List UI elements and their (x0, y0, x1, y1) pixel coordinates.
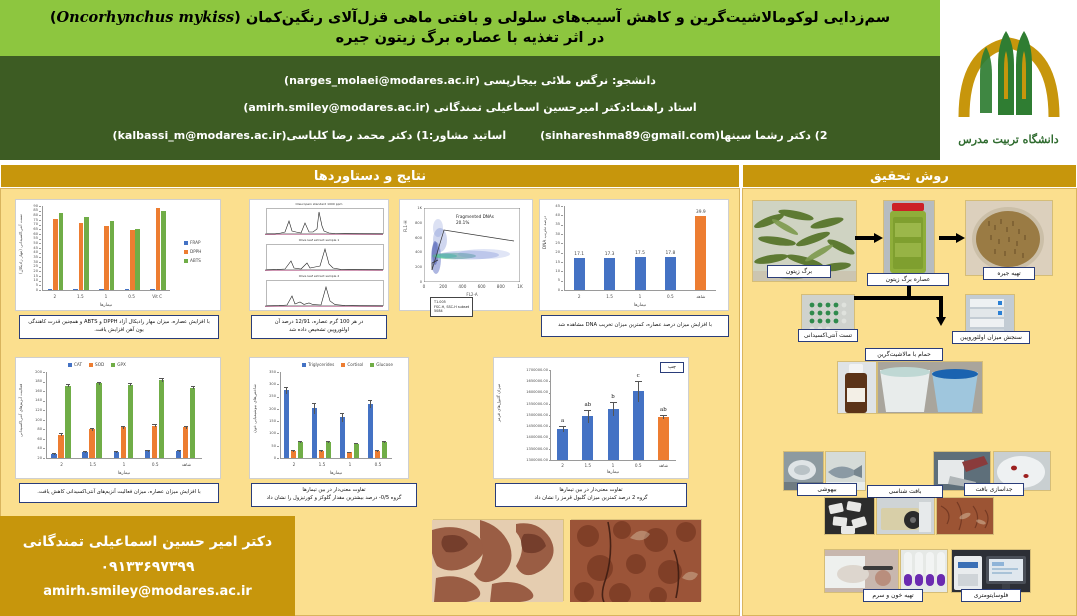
legend-label: Cortisol (347, 362, 363, 367)
y-tick-label: 1600000.00 (506, 390, 548, 394)
y-tick-label: 0 (264, 456, 276, 460)
x-tick-label: 0.5 (626, 463, 651, 468)
label-blood-serum: تهیه خون و سرم (863, 589, 923, 602)
bar (59, 213, 64, 290)
error-bar-cap (152, 424, 156, 425)
photo-histology-slide (936, 497, 994, 535)
bar (176, 451, 182, 458)
fc-annotation-value: 20.1% (456, 220, 469, 225)
chromatogram-3 (266, 280, 384, 306)
y-tick-mark (39, 276, 41, 277)
error-bar-cap (128, 383, 132, 384)
error-bar (638, 381, 639, 403)
legend-swatch (302, 363, 306, 367)
bar (298, 442, 304, 458)
y-tick-mark (549, 370, 551, 371)
x-tick-label: 1 (625, 294, 655, 299)
significance-letter: ab (653, 407, 674, 413)
legend-item: FRAP (184, 240, 201, 245)
bar (635, 257, 646, 290)
chart1-legend: FRAPDPPHABTS (184, 240, 201, 263)
error-bar (588, 410, 589, 424)
y-tick-label: 35 (24, 255, 38, 259)
page-title-line1: سم‌زدایی لوکومالاشیت‌گرین و کاهش آسیب‌ها… (50, 8, 890, 28)
error-bar-cap (559, 426, 566, 427)
bar (319, 451, 325, 458)
y-tick-label: 1350000.00 (506, 447, 548, 451)
legend-item: Triglycerides (302, 362, 334, 367)
photo-olive-extract (883, 200, 935, 276)
chart1-caption-l2: یون آهن افزایش یافت. (94, 327, 144, 335)
legend-label: DPPH (190, 249, 201, 254)
error-bar-cap (375, 450, 379, 451)
bar (608, 409, 619, 460)
error-bar-cap (66, 384, 70, 385)
chart2-caption: در هر 100 گرم عصاره، 12/91 درصد آن اولئو… (251, 315, 387, 339)
histology-image-liver (433, 519, 564, 601)
chart6-y-axis (280, 372, 281, 458)
error-bar-cap (584, 410, 591, 411)
y-tick-label: 1300000.00 (506, 458, 548, 462)
chart5-caption: با افزایش میزان عصاره، میزان فعالیت آنزی… (19, 483, 219, 503)
y-tick-label: 180 (28, 379, 42, 383)
y-tick-mark (43, 382, 45, 383)
y-tick-mark (277, 421, 279, 422)
chart1-caption: با افزایش عصاره، میزان مهار رادیکال آزاد… (19, 315, 219, 339)
bar-value-label: 39.9 (689, 210, 712, 215)
significance-letter: ab (577, 402, 598, 408)
y-tick-label: 1450000.00 (506, 424, 548, 428)
bar (53, 219, 58, 290)
y-tick-label: 200 (264, 407, 276, 411)
y-tick-label: 20 (548, 250, 560, 254)
bar (99, 289, 104, 290)
y-tick-mark (39, 267, 41, 268)
legend-swatch (341, 363, 345, 367)
y-tick-label: 40 (548, 213, 560, 217)
chart4-caption-l1: با افزایش میزان درصد عصاره، کمترین میزان… (558, 322, 712, 330)
y-tick-label: 20 (28, 456, 42, 460)
y-tick-label: 300 (264, 382, 276, 386)
advisors-line: 2) دکتر رشما سینها(sinhareshma89@gmail.c… (113, 129, 828, 142)
y-tick-label: 1400000.00 (506, 435, 548, 439)
page-title-line2: در اثر تغذیه با عصاره برگ زیتون جیره (336, 29, 605, 48)
x-tick-label: 1.5 (77, 462, 108, 467)
y-tick-mark (561, 253, 563, 254)
error-bar-cap (610, 402, 617, 403)
chart1-x-axis (42, 290, 170, 291)
y-tick-label: 15 (24, 274, 38, 278)
photo-blood-tubes (900, 549, 948, 593)
error-bar-cap (284, 387, 288, 388)
bar (150, 289, 155, 290)
chart6-caption-l2: گروه 0/5- درصد بیشترین مقدار گلوکز و کور… (267, 495, 402, 503)
legend-item: CAT (68, 362, 82, 367)
chart7-caption-l2: گروه 2 درصد کمترین میزان گلبول قرمز را ن… (534, 495, 647, 503)
y-tick-mark (561, 290, 563, 291)
y-tick-mark (43, 410, 45, 411)
legend-label: Glucose (376, 362, 393, 367)
fc-legend-box: T1.005 FSC-H, SSC-H subset 5084 (430, 297, 473, 317)
bar (190, 388, 196, 458)
y-tick-label: 400 (410, 250, 422, 254)
chart4-y-axis (564, 206, 565, 290)
error-bar-cap (326, 441, 330, 442)
legend-item: SOD (89, 362, 104, 367)
bar (382, 442, 388, 458)
x-tick-label: 400 (454, 284, 470, 289)
chart1-ylabel: تست آنتی‌اکسیدانی (مهار رادیکال) (18, 214, 23, 288)
x-tick-label: 1K (512, 284, 528, 289)
chart4-x-axis (564, 290, 716, 291)
legend-swatch (89, 363, 93, 367)
y-tick-label: 350 (264, 370, 276, 374)
y-tick-mark (39, 285, 41, 286)
error-bar-cap (368, 400, 372, 401)
section-header-method: روش تحقیق (742, 164, 1077, 188)
x-tick-label: 2 (42, 294, 68, 299)
label-oleuropein-assay: سنجش میزان اولئوروپین (952, 331, 1030, 344)
y-tick-label: 5 (24, 283, 38, 287)
x-tick-label: 0.5 (655, 294, 685, 299)
y-tick-mark (561, 215, 563, 216)
y-tick-label: 0 (24, 288, 38, 292)
error-bar-cap (114, 451, 118, 452)
y-tick-label: 140 (28, 398, 42, 402)
y-tick-mark (39, 206, 41, 207)
legend-label: GPX (117, 362, 126, 367)
advisor-1: اساتید مشاور:1) دکتر محمد رضا کلباسی(kal… (113, 129, 507, 142)
bar (110, 221, 115, 290)
bar (354, 444, 360, 458)
y-tick-label: 100 (28, 418, 42, 422)
x-tick-label: 0.5 (119, 294, 145, 299)
y-tick-mark (39, 257, 41, 258)
chart-dna-damage: درصد تخریب DNA 051015202530354045 17.117… (539, 199, 729, 311)
university-logo: دانشگاه تربیت مدرس (940, 0, 1077, 160)
y-tick-mark (549, 381, 551, 382)
error-bar (370, 400, 371, 409)
contact-email: amirh.smiley@modares.ac.ir (43, 584, 252, 599)
error-bar-cap (298, 441, 302, 442)
bar (125, 289, 130, 290)
error-bar-cap (340, 413, 344, 414)
y-tick-label: 15 (548, 260, 560, 264)
arrow-to-oleuropein-assay (939, 296, 943, 318)
bar (152, 426, 158, 458)
y-tick-mark (549, 449, 551, 450)
chrom3-title: Olive leaf extract sample 2 (250, 274, 388, 278)
x-tick-label: 1.5 (575, 463, 600, 468)
fc-annotation-title: Fragmented DNAs (456, 214, 494, 219)
y-tick-mark (39, 211, 41, 212)
legend-swatch (184, 259, 188, 263)
y-tick-mark (549, 460, 551, 461)
error-bar-cap (660, 415, 667, 416)
y-tick-mark (39, 225, 41, 226)
y-tick-label: 1500000.00 (506, 413, 548, 417)
logo-caption: دانشگاه تربیت مدرس (940, 133, 1077, 146)
contact-phone: ۰۹۱۳۳۶۹۷۳۹۹ (101, 559, 195, 575)
y-tick-mark (43, 429, 45, 430)
bar (121, 427, 127, 458)
y-tick-mark (39, 281, 41, 282)
y-tick-mark (43, 372, 45, 373)
y-tick-mark (549, 404, 551, 405)
histology-slide-photo (936, 498, 993, 535)
bar-value-label: 17.1 (568, 252, 591, 257)
histology-image-intestine (571, 519, 702, 601)
y-tick-label: 25 (24, 264, 38, 268)
title-band: سم‌زدایی لوکومالاشیت‌گرین و کاهش آسیب‌ها… (0, 0, 940, 56)
photo-blood-sampling (824, 549, 899, 593)
legend-label: ABTS (190, 258, 201, 263)
error-bar-cap (635, 381, 642, 382)
error-bar-cap (159, 378, 163, 379)
chart7-xlabel: تیمارها (550, 470, 676, 475)
y-tick-mark (39, 234, 41, 235)
bar (312, 408, 318, 458)
bar (658, 417, 669, 460)
photo-malachite-bottle (837, 361, 877, 414)
y-tick-label: 90 (24, 204, 38, 208)
y-tick-mark (277, 409, 279, 410)
y-tick-label: 80 (24, 213, 38, 217)
student-line: دانشجو: نرگس ملائی بیجارپسی (narges_mola… (284, 74, 656, 87)
y-tick-label: 40 (28, 446, 42, 450)
error-bar-cap (191, 386, 195, 387)
legend-label: CAT (74, 362, 82, 367)
chart5-y-axis (46, 372, 47, 458)
bar (79, 223, 84, 290)
y-tick-mark (39, 253, 41, 254)
bar (284, 390, 290, 458)
bar (48, 289, 53, 290)
x-tick-label: 1 (600, 463, 625, 468)
x-tick-label: 1 (108, 462, 139, 467)
x-tick-label: شاهد (686, 294, 716, 299)
x-tick-label: 2 (280, 462, 308, 467)
y-tick-mark (43, 458, 45, 459)
x-tick-label: 200 (435, 284, 451, 289)
chrom2-trace (265, 245, 383, 271)
poster-root: سم‌زدایی لوکومالاشیت‌گرین و کاهش آسیب‌ها… (0, 0, 1077, 616)
bar (73, 289, 78, 290)
y-tick-mark (39, 248, 41, 249)
chrom2-title: Olive leaf extract sample 1 (250, 238, 388, 242)
chart6-caption-l1: تفاوت معنی‌دار در بین تیمارها (302, 487, 365, 495)
y-tick-mark (39, 271, 41, 272)
microtome-photo (876, 498, 934, 535)
error-bar (286, 387, 287, 394)
feed-preparation-photo (965, 201, 1052, 276)
y-tick-label: 85 (24, 208, 38, 212)
y-tick-mark (43, 420, 45, 421)
supervisor-line: استاد راهنما:دکتر امیرحسین اسماعیلی تمند… (243, 101, 696, 114)
y-tick-mark (561, 234, 563, 235)
error-bar (342, 413, 343, 423)
y-tick-mark (561, 281, 563, 282)
chart-antioxidant-enzymes: CATSODGPX فعالیت آنزیم‌های آنتی‌اکسیدانی… (15, 357, 221, 479)
y-tick-mark (277, 446, 279, 447)
chart2-caption-l1: در هر 100 گرم عصاره، 12/91 درصد آن (275, 319, 364, 327)
x-tick-label: 2 (550, 463, 575, 468)
chart4-caption: با افزایش میزان درصد عصاره، کمترین میزان… (541, 315, 729, 337)
legend-label: Triglycerides (308, 362, 334, 367)
liver-histology-graphic (432, 520, 563, 602)
y-tick-label: 1550000.00 (506, 402, 548, 406)
chart7-caption: تفاوت معنی‌دار در بین تیمارها گروه 2 درص… (495, 483, 687, 507)
y-tick-label: 80 (28, 427, 42, 431)
legend-swatch (184, 250, 188, 254)
y-tick-label: 0 (548, 288, 560, 292)
y-tick-mark (39, 243, 41, 244)
label-feed-preparation: تهیه جیره (983, 267, 1035, 280)
x-tick-label: 0.5 (140, 462, 171, 467)
error-bar-cap (90, 428, 94, 429)
y-tick-mark (39, 229, 41, 230)
y-tick-mark (561, 225, 563, 226)
y-tick-label: 250 (264, 394, 276, 398)
label-antioxidant-test: تست آنتی‌اکسیدانی (798, 329, 858, 342)
y-tick-label: 120 (28, 408, 42, 412)
y-tick-mark (43, 448, 45, 449)
bar (130, 230, 135, 290)
x-tick-label: 0 (416, 284, 432, 289)
bar (156, 208, 161, 290)
y-tick-label: 200 (28, 370, 42, 374)
y-tick-mark (549, 426, 551, 427)
significance-letter: c (628, 373, 649, 379)
treatment-tanks-photo (877, 362, 982, 414)
error-bar-cap (145, 450, 149, 451)
legend-item: GPX (111, 362, 126, 367)
y-tick-label: 200 (410, 265, 422, 269)
chart5-ylabel: فعالیت آنزیم‌های آنتی‌اکسیدانی (18, 384, 23, 456)
x-tick-label: شاهد (171, 462, 202, 467)
x-tick-label: Vit C (144, 294, 170, 299)
error-bar-cap (52, 453, 56, 454)
blood-sampling-photo (824, 550, 898, 593)
y-tick-label: 75 (24, 218, 38, 222)
error-bar-cap (319, 450, 323, 451)
label-anesthesia: بیهوشی (797, 483, 857, 496)
y-tick-label: 60 (28, 437, 42, 441)
y-tick-label: 1K (410, 206, 422, 210)
y-tick-label: 35 (548, 222, 560, 226)
section-header-results: نتایج و دستاوردها (0, 164, 740, 188)
bar (135, 229, 140, 290)
x-tick-label: 1.5 (308, 462, 336, 467)
y-tick-mark (549, 415, 551, 416)
bar (557, 429, 568, 460)
chart-biochemical-blood: TriglyceridesCortisolGlucose شاخص‌های بی… (249, 357, 409, 479)
chart6-caption: تفاوت معنی‌دار در بین تیمارها گروه 0/5- … (251, 483, 417, 507)
y-tick-mark (39, 262, 41, 263)
y-tick-mark (277, 372, 279, 373)
error-bar (314, 403, 315, 414)
y-tick-label: 100 (264, 431, 276, 435)
bar (695, 216, 706, 290)
tissue-cassettes-photo (824, 498, 874, 535)
y-tick-label: 70 (24, 222, 38, 226)
advisor-2: 2) دکتر رشما سینها(sinhareshma89@gmail.c… (540, 129, 827, 142)
x-tick-label: 1 (336, 462, 364, 467)
bar (65, 386, 71, 458)
error-bar-cap (83, 451, 87, 452)
photo-feed-preparation (965, 200, 1053, 276)
chart-antioxidant-capacity: تست آنتی‌اکسیدانی (مهار رادیکال) 0510152… (15, 199, 221, 311)
bar (574, 258, 585, 290)
chart5-xlabel: تیمارها (46, 471, 202, 476)
error-bar (613, 402, 614, 416)
y-tick-label: 150 (264, 419, 276, 423)
y-tick-mark (561, 271, 563, 272)
title-text-part1: سم‌زدایی لوکومالاشیت‌گرین و کاهش آسیب‌ها… (234, 10, 890, 26)
y-tick-label: 160 (28, 389, 42, 393)
chrom3-trace (265, 281, 383, 307)
y-tick-label: 45 (24, 246, 38, 250)
chart1-caption-l1: با افزایش عصاره، میزان مهار رادیکال آزاد… (28, 319, 210, 327)
x-tick-label: 1.5 (594, 294, 624, 299)
x-tick-label: 1.5 (68, 294, 94, 299)
error-bar-cap (354, 443, 358, 444)
blood-tubes-photo (900, 550, 947, 593)
chart4-xlabel: تیمارها (564, 303, 716, 308)
bar (161, 211, 166, 290)
y-tick-label: 800 (410, 221, 422, 225)
y-tick-label: 40 (24, 250, 38, 254)
poster-header: سم‌زدایی لوکومالاشیت‌گرین و کاهش آسیب‌ها… (0, 0, 1077, 160)
y-tick-mark (277, 433, 279, 434)
legend-swatch (370, 363, 374, 367)
x-tick-label: 1 (93, 294, 119, 299)
y-tick-mark (39, 215, 41, 216)
error-bar-cap (121, 426, 125, 427)
y-tick-mark (43, 401, 45, 402)
chart6-ylabel: شاخص‌های بیوشیمیایی خون (252, 384, 257, 454)
y-tick-mark (277, 397, 279, 398)
arrow-extract-to-feed (939, 236, 957, 240)
label-tissue-separation: جداسازی بافت (964, 483, 1024, 496)
photo-histology-cassettes (824, 497, 875, 535)
chart7-legend-label: چپ (668, 364, 676, 372)
y-tick-label: 45 (548, 204, 560, 208)
chart7-x-axis (550, 460, 676, 461)
error-bar-cap (97, 382, 101, 383)
chart7-caption-l1: تفاوت معنی‌دار در بین تیمارها (559, 487, 622, 495)
x-tick-label: 0.5 (364, 462, 392, 467)
y-tick-label: 10 (24, 278, 38, 282)
bar (159, 380, 165, 458)
chart5-caption-l1: با افزایش میزان عصاره، میزان فعالیت آنزی… (37, 489, 200, 497)
chrom1-trace (265, 209, 383, 235)
error-bar-cap (59, 433, 63, 434)
chrom1-title: Oleuropein standard 1000 ppm (250, 202, 388, 206)
chart-hplc-chromatograms: Oleuropein standard 1000 ppm Olive leaf … (249, 199, 389, 311)
y-tick-mark (549, 393, 551, 394)
y-tick-label: 5 (548, 278, 560, 282)
chart6-xlabel: تیمارها (280, 471, 392, 476)
x-tick-label: 2 (564, 294, 594, 299)
bar (96, 383, 102, 458)
bar (665, 257, 676, 290)
authors-band: دانشجو: نرگس ملائی بیجارپسی (narges_mola… (0, 56, 940, 160)
chart5-x-axis (46, 458, 202, 459)
error-bar-cap (291, 450, 295, 451)
chart2-caption-l2: اولئوروپین تشخیص داده شد (289, 327, 349, 335)
species-name: Oncorhynchus mykiss (57, 9, 235, 26)
